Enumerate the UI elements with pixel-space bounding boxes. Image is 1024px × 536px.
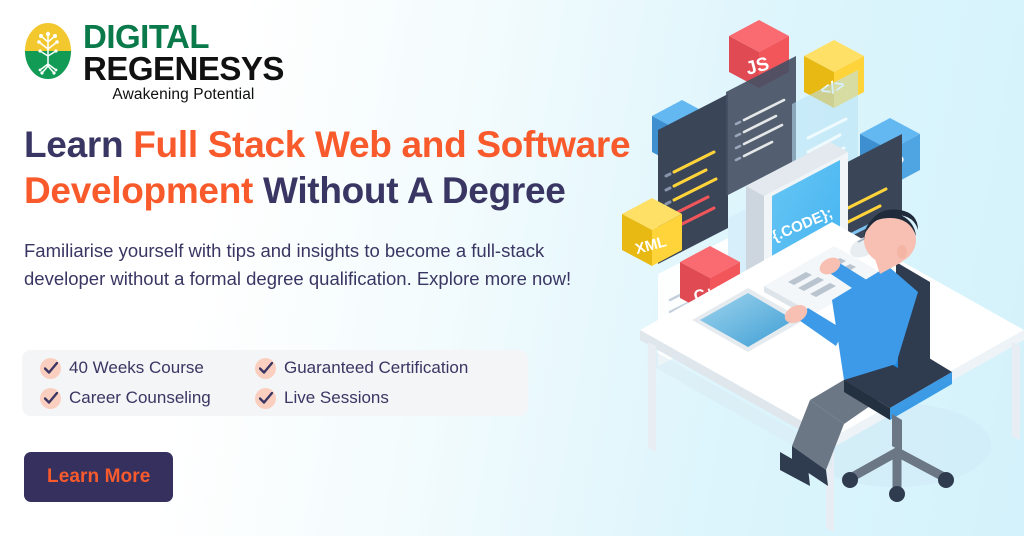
list-item: Guaranteed Certification: [255, 358, 468, 379]
list-item: 40 Weeks Course: [40, 358, 255, 379]
check-icon: [40, 358, 61, 379]
feature-label: Guaranteed Certification: [284, 358, 468, 378]
feature-label: Live Sessions: [284, 388, 389, 408]
brand-name-line2: REGENESYS: [83, 52, 284, 85]
features-column-right: Guaranteed Certification Live Sessions: [255, 358, 468, 409]
headline-part-3: Without A Degree: [253, 170, 566, 211]
features-column-left: 40 Weeks Course Career Counseling: [40, 358, 255, 409]
features-box: 40 Weeks Course Career Counseling Guaran…: [22, 350, 528, 416]
feature-label: Career Counseling: [69, 388, 211, 408]
brand-logo[interactable]: DIGITAL REGENESYS Awakening Potential: [22, 20, 284, 104]
check-icon: [255, 358, 276, 379]
body-copy: Familiarise yourself with tips and insig…: [24, 237, 624, 293]
brand-name-line1: DIGITAL: [83, 21, 284, 52]
feature-label: 40 Weeks Course: [69, 358, 204, 378]
headline-part-1: Learn: [24, 124, 133, 165]
brand-wordmark: DIGITAL REGENESYS Awakening Potential: [83, 20, 284, 104]
page-title: Learn Full Stack Web and Software Develo…: [24, 122, 644, 214]
list-item: Career Counseling: [40, 388, 255, 409]
brand-tagline: Awakening Potential: [83, 86, 284, 104]
check-icon: [255, 388, 276, 409]
learn-more-button[interactable]: Learn More: [24, 452, 173, 502]
list-item: Live Sessions: [255, 388, 468, 409]
hero-illustration: {..} JS </>: [596, 0, 1024, 536]
promo-banner: DIGITAL REGENESYS Awakening Potential Le…: [0, 0, 1024, 536]
tree-shield-logo-icon: [22, 20, 74, 82]
check-icon: [40, 388, 61, 409]
